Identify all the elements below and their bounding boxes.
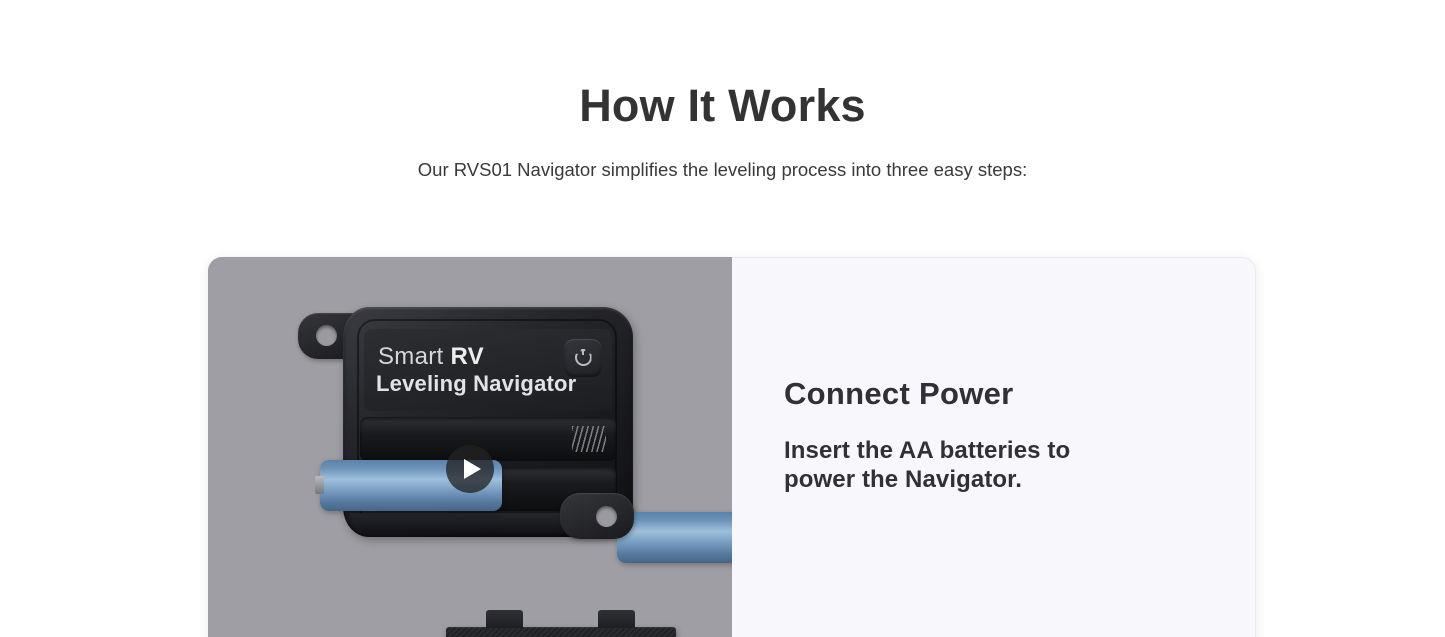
step-heading: Connect Power (784, 376, 1195, 412)
screw-hole-icon (316, 325, 337, 346)
screw-hole-icon (596, 506, 617, 527)
play-icon (464, 459, 481, 479)
play-button[interactable] (446, 445, 494, 493)
device-brand-prefix: Smart (378, 343, 450, 370)
device-illustration: Smart RV Leveling Navigator (298, 307, 716, 597)
aa-battery-bottom (617, 512, 732, 563)
step-card: Smart RV Leveling Navigator (208, 257, 1256, 637)
section-header: How It Works Our RVS01 Navigator simplif… (0, 0, 1445, 182)
cover-tab-right (598, 610, 635, 628)
device-power-button (564, 339, 602, 377)
device-faceplate: Smart RV Leveling Navigator (364, 329, 612, 411)
device-model-label: Leveling Navigator (376, 371, 576, 397)
step-video-thumbnail[interactable]: Smart RV Leveling Navigator (208, 257, 732, 637)
section-subtitle: Our RVS01 Navigator simplifies the level… (0, 157, 1445, 183)
step-description: Insert the AA batteries to power the Nav… (784, 436, 1084, 495)
battery-terminal-icon (315, 476, 324, 494)
page-title: How It Works (0, 82, 1445, 131)
battery-spring-icon (572, 426, 606, 452)
cover-tab-left (486, 610, 523, 628)
device-brand-bold: RV (450, 343, 484, 370)
device-brand-label: Smart RV (378, 343, 484, 371)
mounting-ear-bottom-right (560, 493, 634, 539)
how-it-works-section: How It Works Our RVS01 Navigator simplif… (0, 0, 1445, 637)
battery-cover (446, 627, 676, 637)
power-icon (575, 349, 592, 366)
step-info-panel: Connect Power Insert the AA batteries to… (732, 257, 1256, 637)
